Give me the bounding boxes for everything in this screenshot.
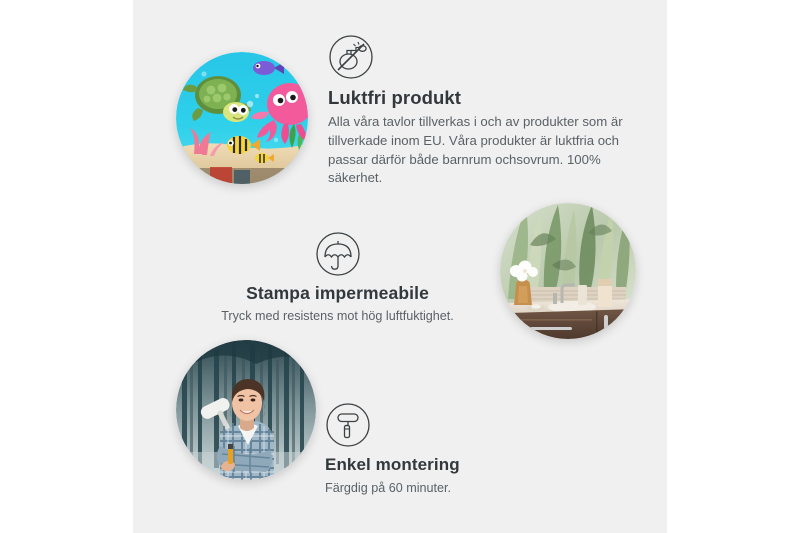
decorator-forest-illustration (176, 340, 316, 480)
photo-underwater-scene (176, 52, 308, 184)
feature-title: Luktfri produkt (328, 87, 634, 108)
promo-banner: Luktfri produkt Alla våra tavlor tillver… (0, 0, 800, 533)
underwater-scene-illustration (176, 52, 308, 184)
feature-easy-mounting: Enkel montering Färgdig på 60 minuter. (325, 402, 540, 497)
feature-title: Stampa impermeabile (210, 283, 465, 303)
bathroom-scene-illustration (500, 203, 636, 339)
umbrella-icon (315, 231, 361, 277)
feature-odourless: Luktfri produkt Alla våra tavlor tillver… (328, 34, 634, 188)
feature-waterproof: Stampa impermeabile Tryck med resistens … (210, 231, 465, 326)
feature-title: Enkel montering (325, 455, 540, 475)
feature-description: Färgdig på 60 minuter. (325, 480, 540, 498)
feature-description: Tryck med resistens mot hög luftfuktighe… (210, 308, 465, 326)
feature-description: Alla våra tavlor tillverkas i och av pro… (328, 113, 634, 188)
photo-decorator-forest-scene (176, 340, 316, 480)
photo-bathroom-wallpaper-scene (500, 203, 636, 339)
paint-roller-icon (325, 402, 371, 448)
no-fragrance-icon (328, 34, 374, 80)
